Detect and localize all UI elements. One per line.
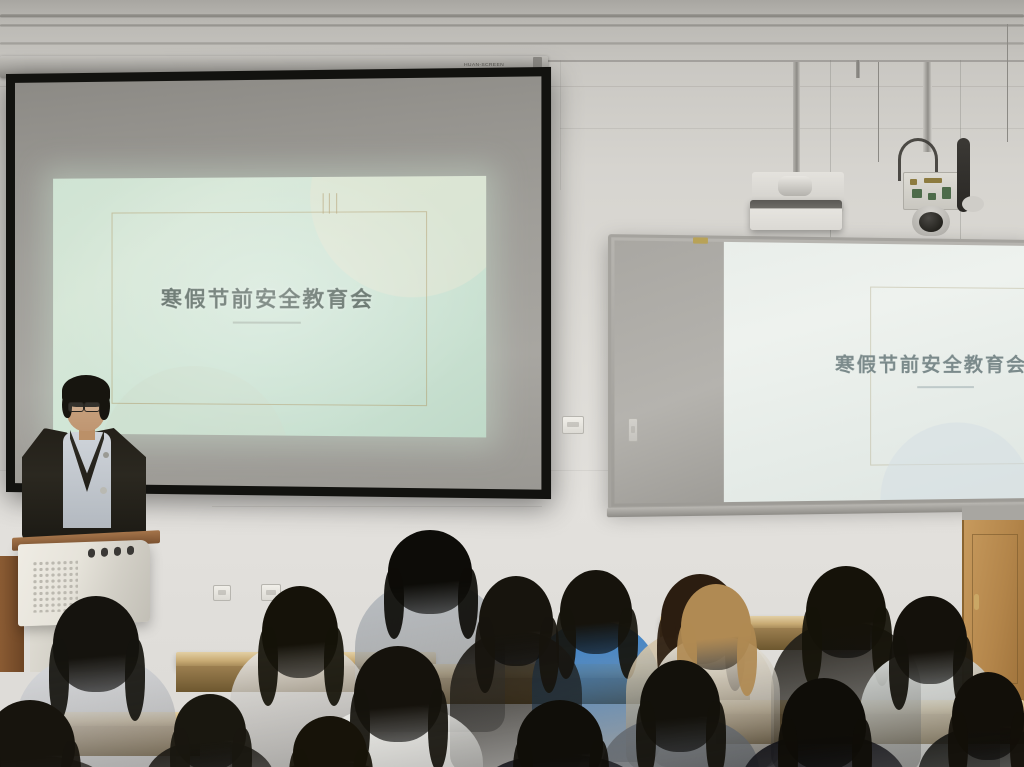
classroom-photo: HUAN-SCREEN 寒假节前安全教育会 — [0, 0, 1024, 767]
student-hair — [539, 617, 559, 694]
student-hair — [384, 568, 404, 639]
student-hair — [458, 568, 478, 639]
student-hair — [636, 701, 656, 767]
circuit-chip — [942, 187, 951, 199]
slide-glow — [53, 176, 486, 438]
student-hair — [852, 719, 872, 767]
ceiling-conduit-pipe — [0, 24, 1024, 27]
presenter-hair — [99, 392, 110, 420]
door-panel — [972, 534, 1018, 684]
wall-panel-line — [560, 60, 561, 190]
door-handle[interactable] — [974, 594, 979, 610]
student-hair — [706, 701, 726, 767]
hanging-wire — [878, 62, 879, 162]
student-hair — [1010, 712, 1024, 767]
whiteboard-slide-rule — [917, 386, 974, 388]
wall-panel-line — [560, 128, 1024, 129]
student-hair — [475, 617, 495, 694]
circuit-chip — [912, 189, 922, 198]
student-hair — [778, 719, 798, 767]
projector — [750, 200, 842, 230]
student-hair — [232, 728, 252, 767]
door-header — [962, 506, 1024, 520]
ceiling-conduit-pipe — [0, 14, 1024, 18]
camera-circuit-board — [903, 172, 959, 210]
ceiling — [0, 0, 1024, 62]
student-hair — [428, 689, 448, 767]
hanging-wire — [1007, 24, 1008, 142]
student-hair — [170, 728, 190, 767]
student-hair — [948, 712, 968, 767]
wall-scuff-line — [212, 506, 542, 507]
smart-whiteboard[interactable]: 寒假节前安全教育会 — [608, 234, 1024, 510]
projector-mount-pole — [793, 62, 800, 174]
wall-outlet[interactable] — [213, 585, 231, 601]
podium-button[interactable] — [114, 547, 121, 556]
whiteboard-clip — [693, 237, 708, 243]
student-hair — [737, 623, 757, 696]
podium-button[interactable] — [101, 547, 108, 556]
glasses-icon — [84, 402, 100, 412]
camera-lens — [919, 212, 943, 232]
glasses-icon — [68, 402, 84, 412]
circuit-connector — [910, 179, 917, 185]
wall-bracket — [856, 60, 860, 78]
whiteboard-display-panel: 寒假节前安全教育会 — [724, 242, 1024, 502]
ceiling-conduit-pipe — [0, 42, 1024, 45]
student-hair — [889, 636, 909, 711]
podium-button[interactable] — [88, 548, 95, 557]
student-hair — [324, 627, 344, 705]
student-hair — [258, 627, 278, 705]
wall-switch[interactable] — [562, 416, 584, 434]
student-hair — [125, 639, 145, 721]
circuit-chip — [928, 193, 936, 200]
whiteboard-left-panel — [614, 240, 723, 503]
podium-button[interactable] — [127, 546, 134, 555]
camera-wall-mount — [962, 196, 984, 212]
projected-slide: 寒假节前安全教育会 — [53, 176, 486, 438]
whiteboard-slide-title: 寒假节前安全教育会 — [835, 350, 1024, 378]
circuit-connector — [924, 178, 942, 183]
projector-lens — [778, 176, 812, 196]
presenter-badge — [103, 452, 109, 458]
wall-conduit-box — [628, 418, 638, 442]
presenter-button — [100, 487, 107, 494]
student-hair — [802, 607, 822, 685]
